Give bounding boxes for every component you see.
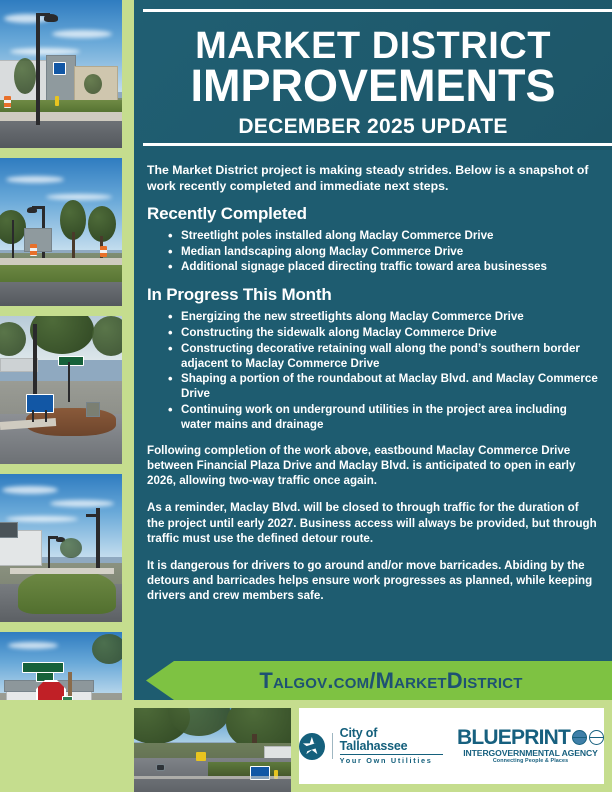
heading-in-progress: In Progress This Month [147, 285, 598, 305]
flyer-page: MARKET DISTRICT IMPROVEMENTS DECEMBER 20… [0, 0, 612, 792]
header-block: MARKET DISTRICT IMPROVEMENTS DECEMBER 20… [134, 0, 612, 150]
header-rule-bottom [143, 143, 612, 146]
heading-recently-completed: Recently Completed [147, 204, 598, 224]
list-item: Energizing the new streetlights along Ma… [181, 310, 598, 325]
globe-outline-icon [589, 730, 604, 745]
list-item: Shaping a portion of the roundabout at M… [181, 372, 598, 402]
city-tagline: Your Own Utilities [340, 757, 443, 765]
city-star-icon [299, 733, 325, 760]
body-area: The Market District project is making st… [134, 150, 612, 700]
paragraph-safety-warning: It is dangerous for drivers to go around… [147, 558, 598, 604]
header-rule-top [143, 9, 612, 12]
intro-paragraph: The Market District project is making st… [147, 162, 598, 195]
city-name: City of Tallahassee [340, 727, 443, 755]
photo-tree-lined-roadway [134, 708, 291, 792]
footer-strip: City of Tallahassee Your Own Utilities B… [0, 700, 612, 792]
url-banner[interactable]: Talgov.com/MarketDistrict [134, 661, 612, 700]
photo-business-sign-island [0, 316, 122, 464]
city-of-tallahassee-logo: City of Tallahassee Your Own Utilities [299, 727, 443, 765]
photo-streetlight-building [0, 0, 122, 148]
photo-grass-median [0, 474, 122, 622]
photo-median-landscaping [0, 158, 122, 306]
blueprint-wordmark-row: BLUEPRINT [457, 727, 604, 748]
blueprint-word: BLUEPRINT [457, 727, 570, 748]
footer-logo-card: City of Tallahassee Your Own Utilities B… [299, 708, 604, 784]
list-recently-completed: Streetlight poles installed along Maclay… [147, 229, 598, 275]
list-in-progress: Energizing the new streetlights along Ma… [147, 310, 598, 433]
blueprint-agency-logo: BLUEPRINT INTERGOVERNMENTAL AGENCY Conne… [457, 727, 604, 765]
logo-divider [332, 733, 333, 759]
paragraph-closure-reminder: As a reminder, Maclay Blvd. will be clos… [147, 500, 598, 546]
blueprint-subtitle: INTERGOVERNMENTAL AGENCY [457, 749, 604, 758]
list-item: Streetlight poles installed along Maclay… [181, 229, 598, 244]
list-item: Additional signage placed directing traf… [181, 260, 598, 275]
project-website-link[interactable]: Talgov.com/MarketDistrict [178, 661, 604, 700]
list-item: Continuing work on underground utilities… [181, 403, 598, 433]
list-item: Constructing decorative retaining wall a… [181, 342, 598, 372]
paragraph-reopening: Following completion of the work above, … [147, 443, 598, 489]
main-content-panel: MARKET DISTRICT IMPROVEMENTS DECEMBER 20… [134, 0, 612, 700]
list-item: Median landscaping along Maclay Commerce… [181, 245, 598, 260]
photo-rail [0, 0, 134, 792]
city-logo-wordmark: City of Tallahassee Your Own Utilities [340, 727, 443, 765]
blueprint-tagline: Connecting People & Places [457, 759, 604, 764]
page-title-line2: IMPROVEMENTS [134, 63, 612, 108]
page-subtitle: DECEMBER 2025 UPDATE [134, 115, 612, 139]
list-item: Constructing the sidewalk along Maclay C… [181, 326, 598, 341]
globe-icon [572, 730, 587, 745]
